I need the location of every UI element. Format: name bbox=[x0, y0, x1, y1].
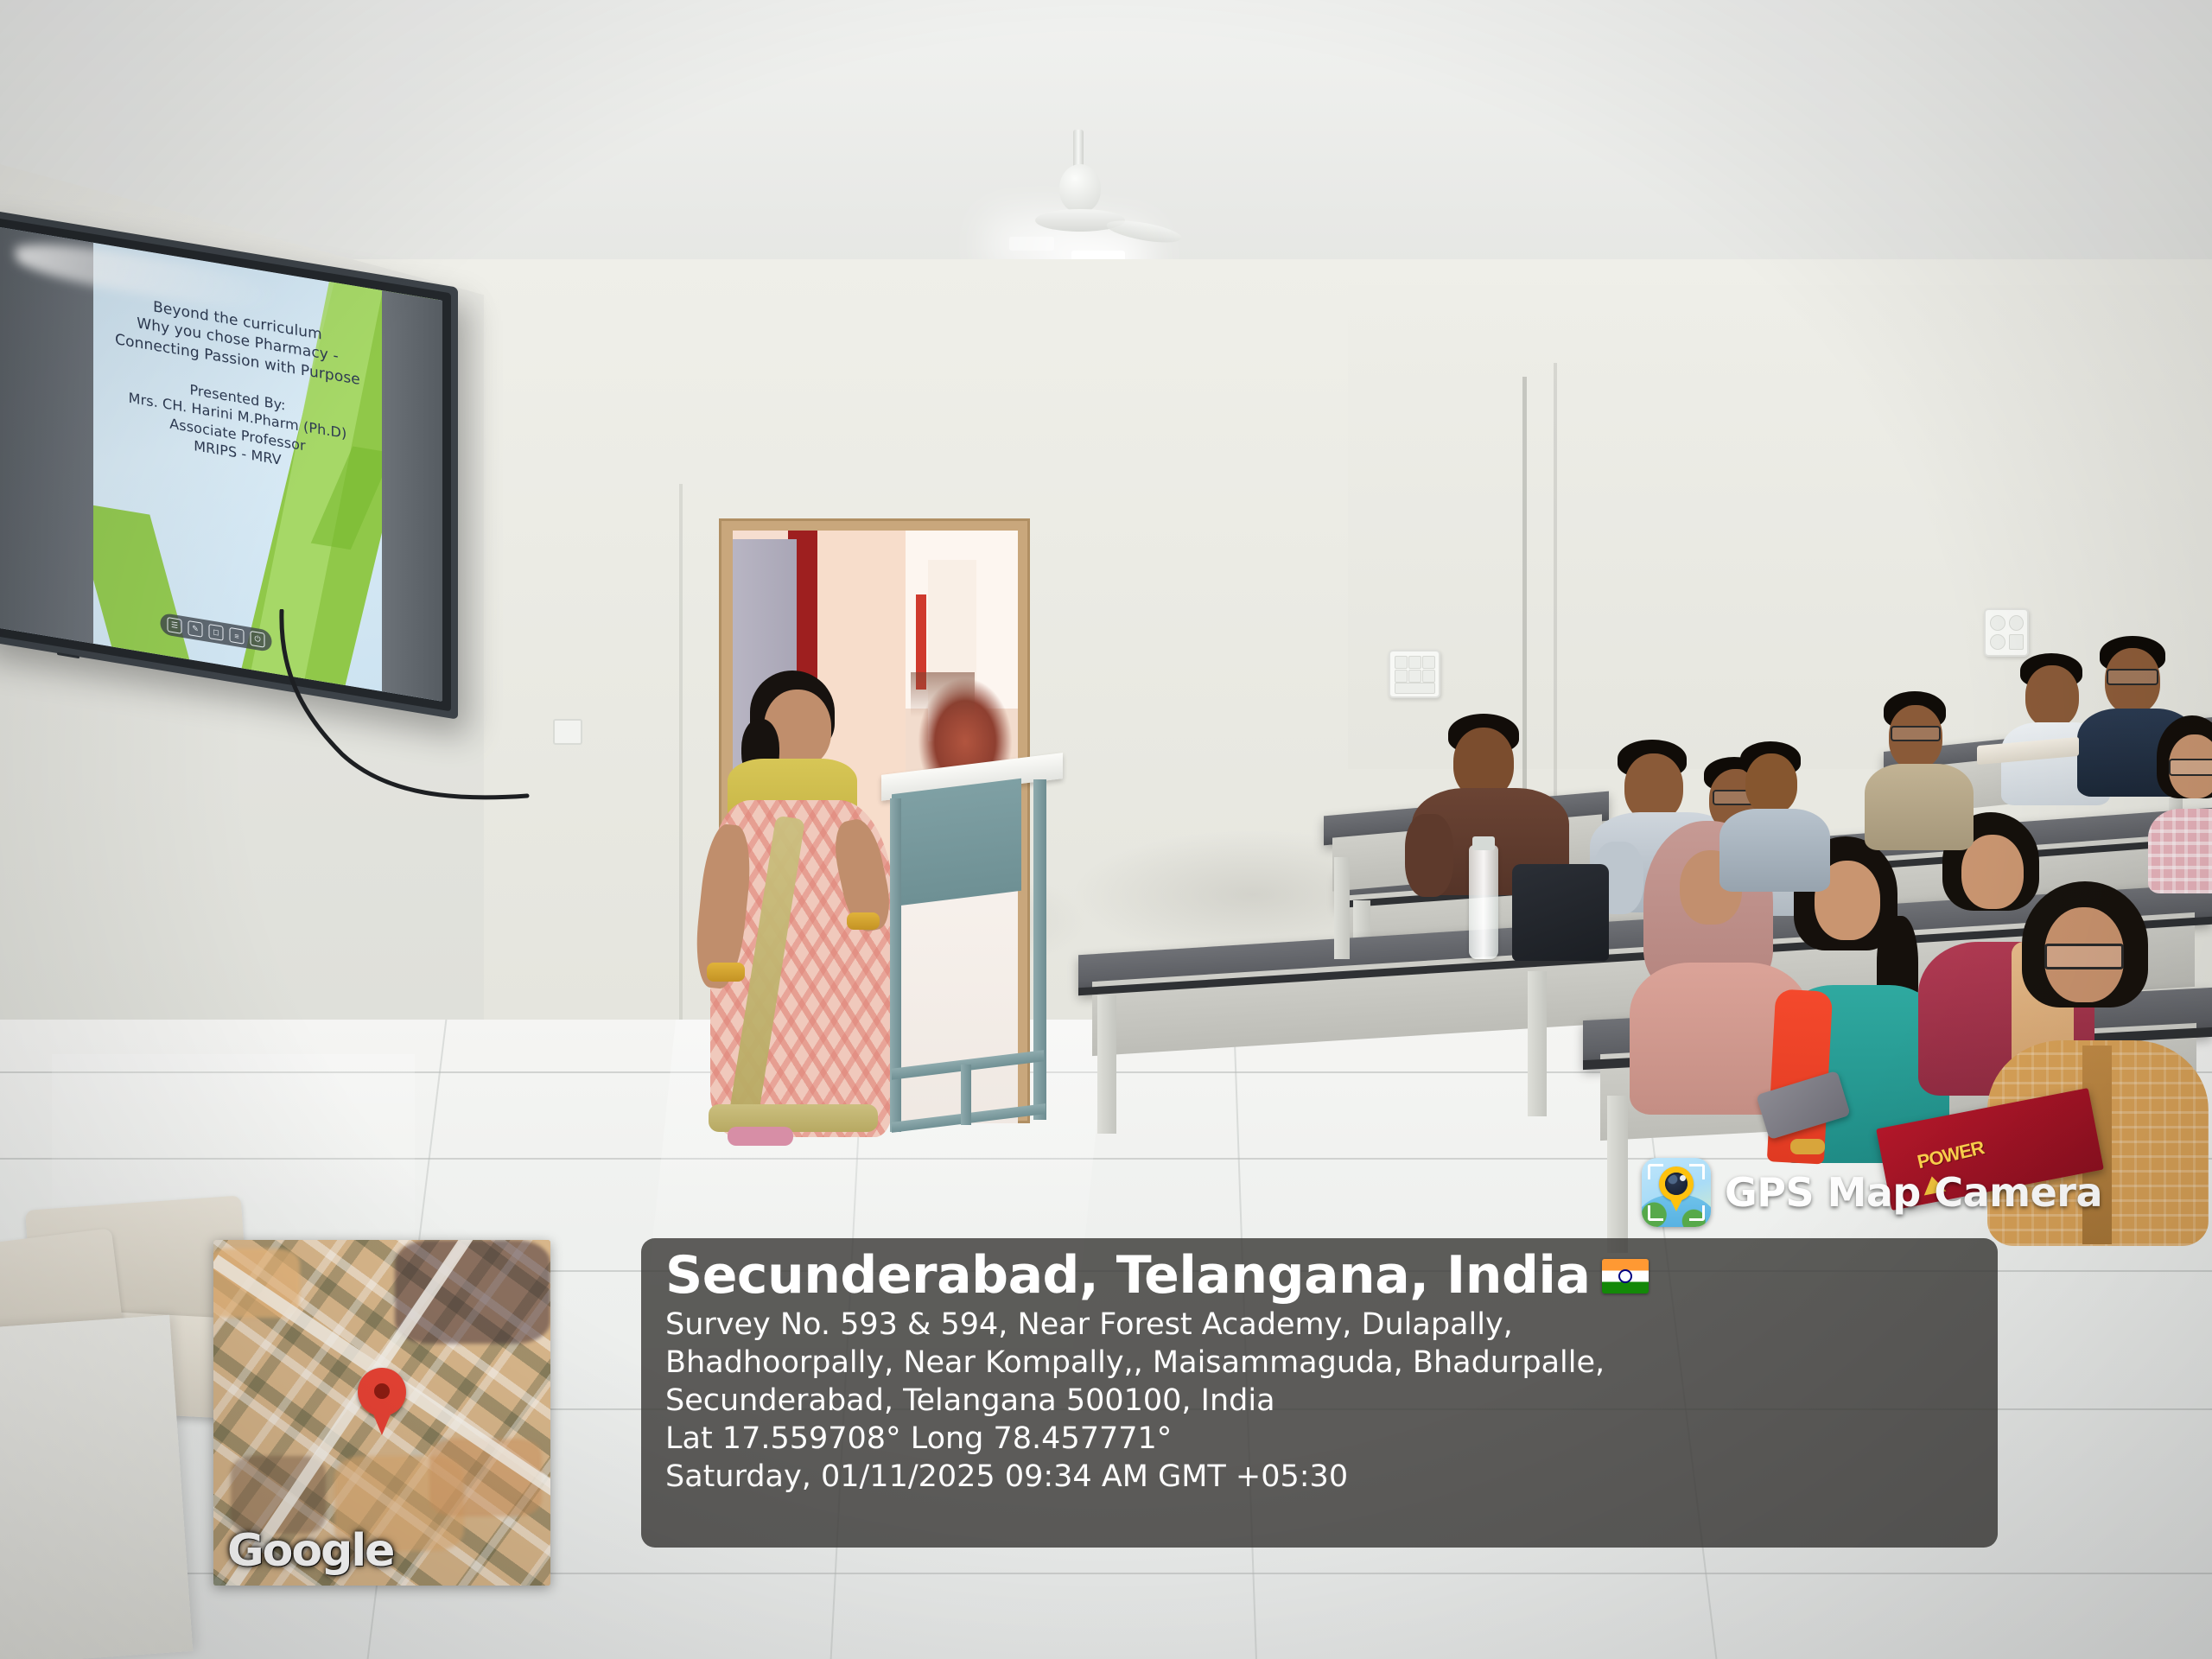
viewfinder-bracket bbox=[1689, 1205, 1705, 1221]
display-power-cable bbox=[275, 609, 534, 817]
wall-switchboard[interactable] bbox=[1389, 650, 1440, 698]
eyeglasses bbox=[1891, 726, 1941, 741]
location-pin-tip bbox=[1668, 1194, 1685, 1211]
india-flag-icon bbox=[1602, 1259, 1649, 1294]
gps-map-camera-icon bbox=[1642, 1158, 1711, 1227]
screen-icon[interactable]: ◻ bbox=[209, 624, 224, 641]
keyboard-icon[interactable]: ≡ bbox=[230, 627, 245, 645]
address-line-3: Secunderabad, Telangana 500100, India bbox=[665, 1382, 1975, 1420]
location-title-row: Secunderabad, Telangana, India bbox=[665, 1249, 1975, 1304]
eyeglasses bbox=[2107, 669, 2158, 685]
map-marker bbox=[358, 1368, 406, 1416]
gps-info-panel: Secunderabad, Telangana, India Survey No… bbox=[641, 1238, 1998, 1548]
presenter-bangles bbox=[707, 963, 745, 982]
viewfinder-bracket bbox=[1648, 1205, 1663, 1221]
corridor-railing bbox=[911, 672, 975, 717]
screen-letterbox-left bbox=[0, 226, 93, 644]
pen-icon[interactable]: ✎ bbox=[188, 620, 203, 638]
google-watermark: Google bbox=[227, 1525, 393, 1577]
location-title: Secunderabad, Telangana, India bbox=[665, 1249, 1590, 1304]
audience-member bbox=[1865, 691, 1975, 847]
address-line-1: Survey No. 593 & 594, Near Forest Academ… bbox=[665, 1306, 1975, 1344]
location-details: Survey No. 593 & 594, Near Forest Academ… bbox=[665, 1306, 1975, 1496]
gps-badge-label: GPS Map Camera bbox=[1725, 1169, 2102, 1216]
presenter-bangles bbox=[847, 912, 880, 930]
table-foreground bbox=[0, 1315, 193, 1659]
backpack[interactable] bbox=[1512, 864, 1609, 961]
gps-map-camera-badge: GPS Map Camera bbox=[1642, 1151, 2125, 1234]
podium-leg bbox=[961, 1065, 971, 1125]
presenter-sandal bbox=[728, 1127, 793, 1146]
wall-seam bbox=[679, 484, 683, 1089]
wall-switch-plate[interactable] bbox=[1984, 608, 2029, 657]
bottle-cap bbox=[1472, 836, 1495, 850]
coordinates-line: Lat 17.559708° Long 78.457771° bbox=[665, 1420, 1975, 1458]
map-thumbnail[interactable]: Google bbox=[213, 1240, 550, 1586]
address-line-2: Bhadhoorpally, Near Kompally,, Maisammag… bbox=[665, 1344, 1975, 1382]
audience-member bbox=[2148, 715, 2212, 888]
eyeglasses bbox=[2044, 944, 2124, 969]
podium-panel bbox=[892, 779, 1021, 906]
note-icon[interactable]: ☰ bbox=[168, 617, 182, 634]
podium-leg bbox=[1033, 779, 1046, 1120]
podium-leg bbox=[890, 798, 901, 1132]
viewfinder-bracket bbox=[1648, 1164, 1663, 1179]
lens-highlight bbox=[1680, 1175, 1686, 1181]
ceiling-fan bbox=[1020, 130, 1141, 276]
viewfinder-bracket bbox=[1689, 1164, 1705, 1179]
photo-canvas: Beyond the curriculum Why you chose Phar… bbox=[0, 0, 2212, 1659]
wall-power-socket[interactable] bbox=[553, 719, 582, 745]
water-bottle[interactable] bbox=[1469, 845, 1498, 959]
audience-member bbox=[1719, 741, 1832, 888]
map-terrain-blotch bbox=[395, 1240, 550, 1344]
eyeglasses bbox=[2169, 759, 2212, 776]
timestamp-line: Saturday, 01/11/2025 09:34 AM GMT +05:30 bbox=[665, 1458, 1975, 1496]
podium[interactable] bbox=[881, 764, 1063, 1135]
power-icon[interactable]: ⏻ bbox=[251, 631, 265, 648]
